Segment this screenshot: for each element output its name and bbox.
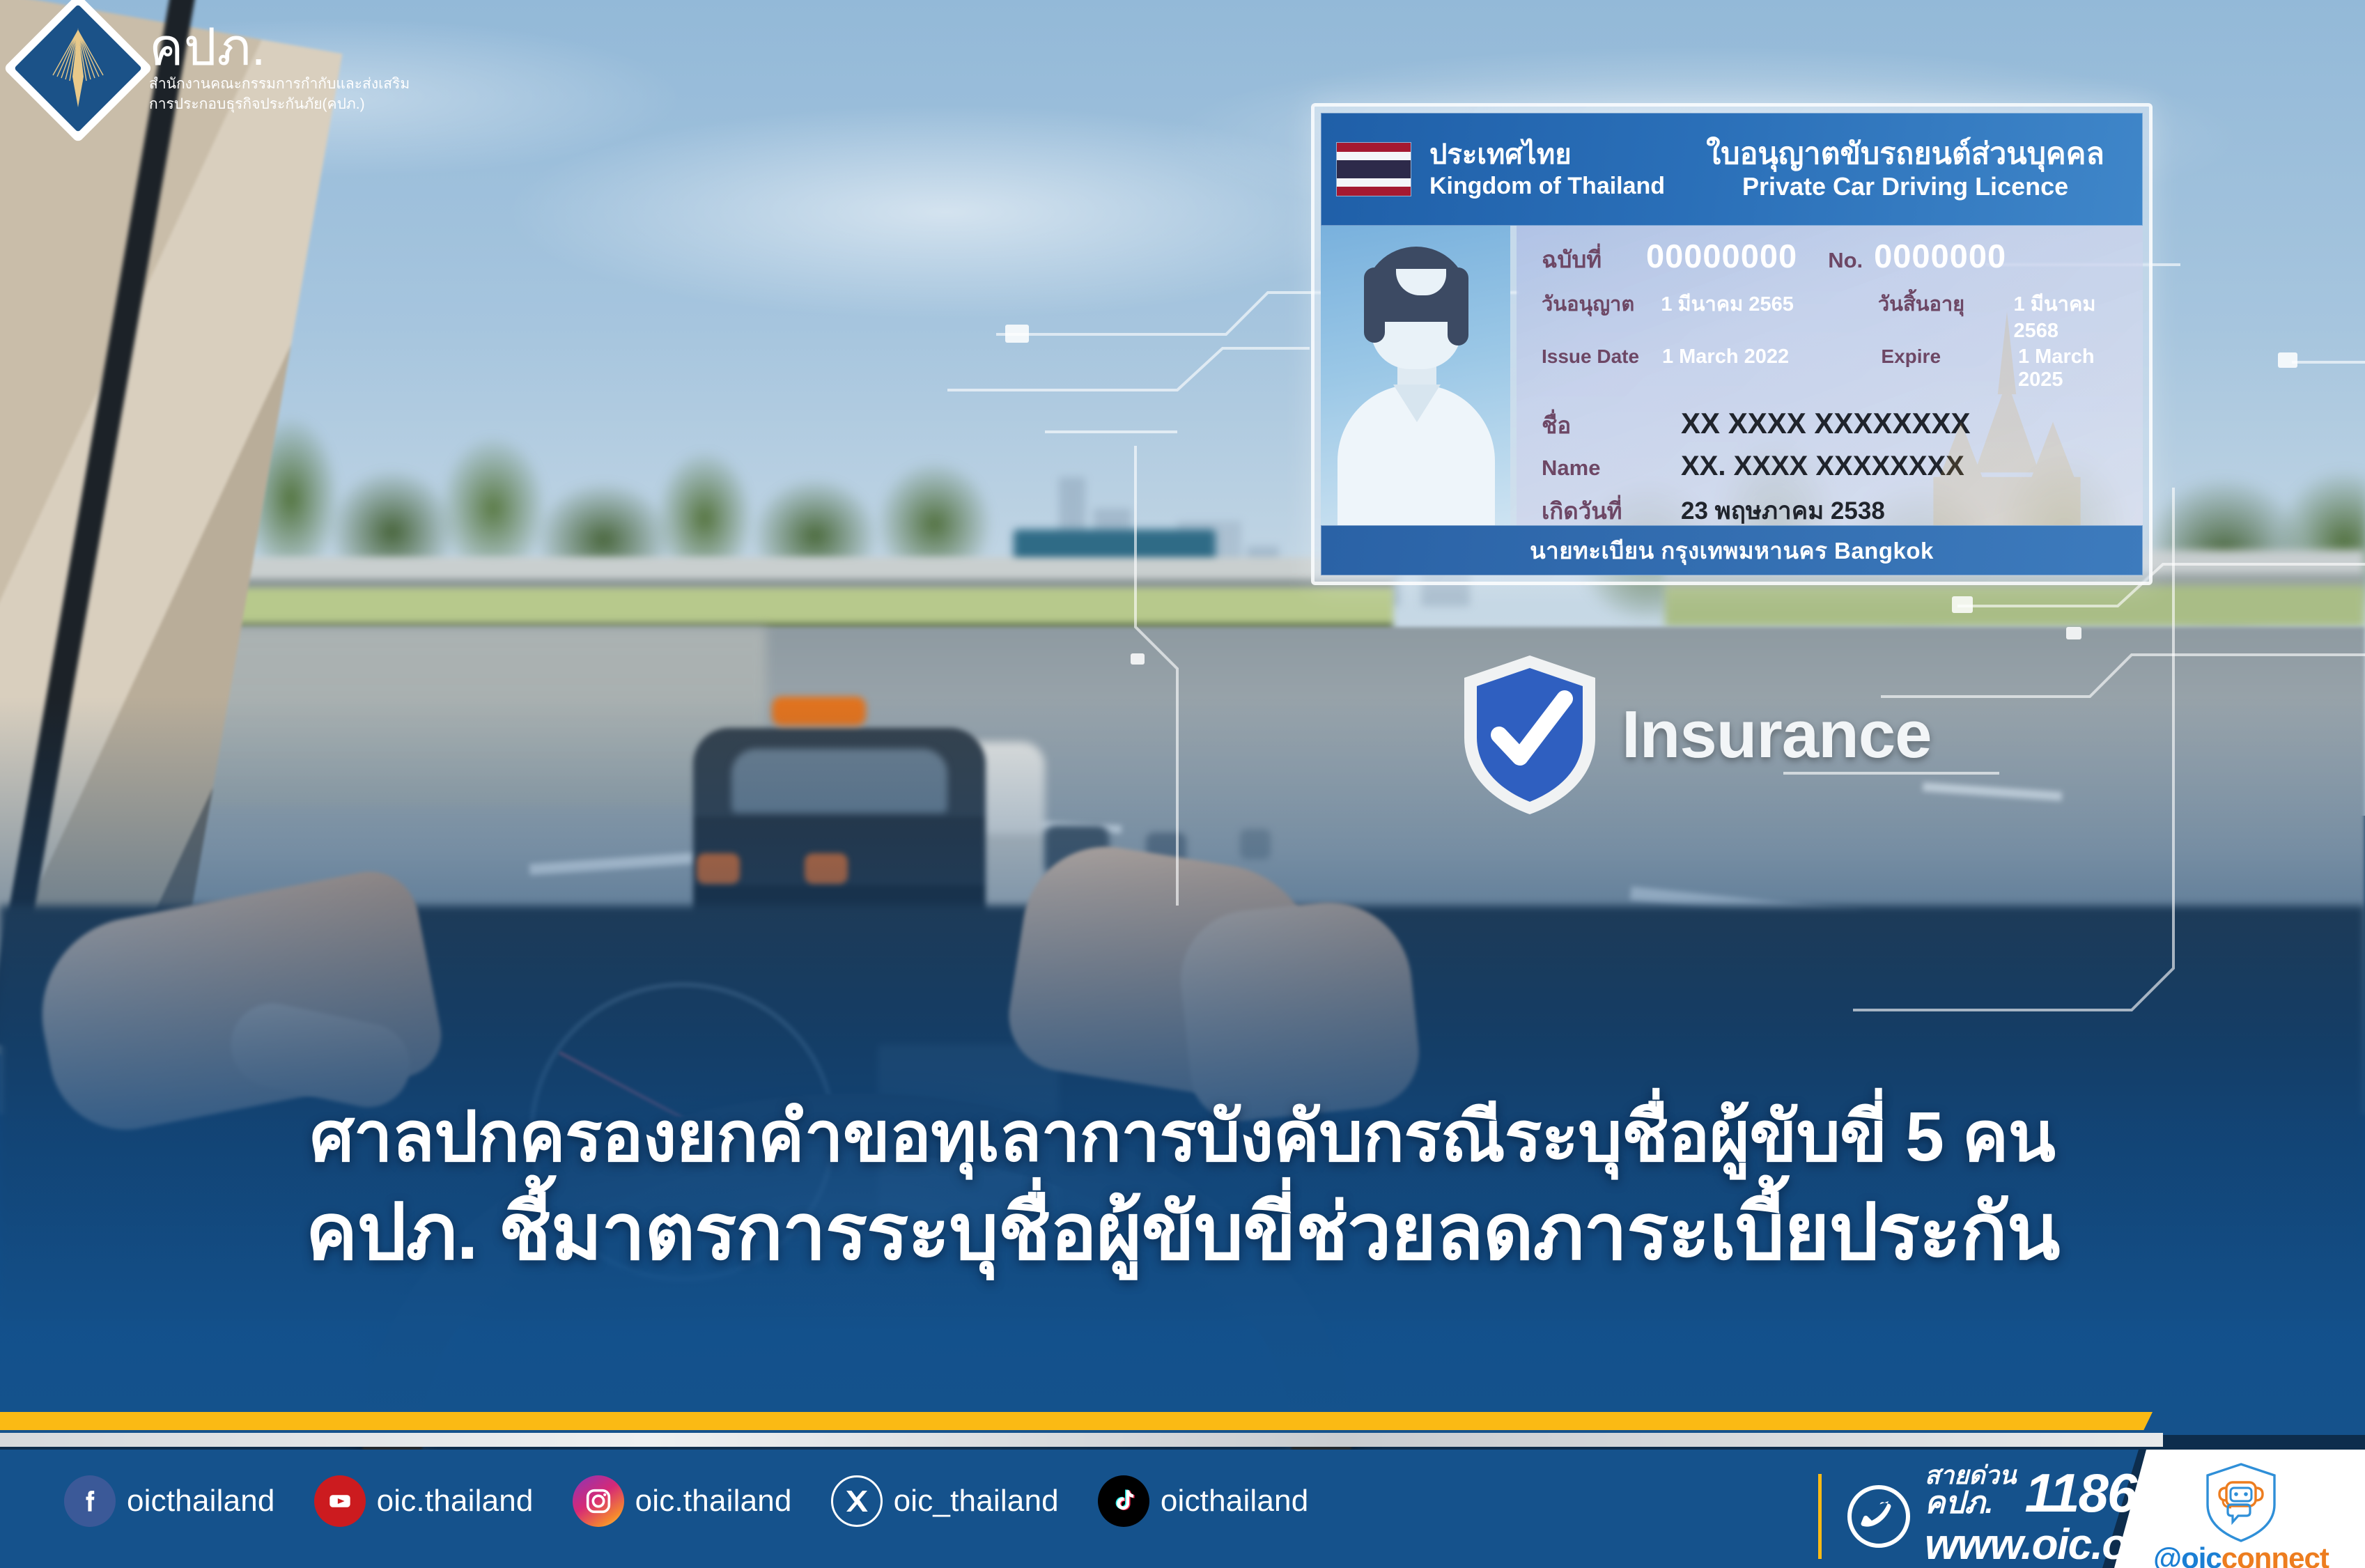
licence-registrar: นายทะเบียน กรุงเทพมหานคร Bangkok: [1321, 525, 2143, 575]
shield-check-icon: [1456, 651, 1604, 818]
licence-no-label: No.: [1797, 248, 1874, 273]
logo-abbr: คปภ.: [149, 23, 410, 72]
insurance-label: Insurance: [1622, 697, 1932, 773]
footer: oicthailand oic.thailand oic.thailand: [0, 1393, 2365, 1568]
licence-birth-th-label: เกิดวันที่: [1542, 492, 1681, 529]
logo-subtitle-line2: การประกอบธุรกิจประกันภัย(คปภ.): [149, 95, 410, 114]
social-x-twitter[interactable]: oic_thailand: [831, 1475, 1059, 1527]
social-handle: oic.thailand: [635, 1484, 792, 1519]
licence-country-en: Kingdom of Thailand: [1429, 172, 1665, 200]
hotline-label-1: สายด่วน: [1925, 1463, 2016, 1488]
licence-no-value: 0000000: [1874, 237, 2006, 275]
insurance-badge: Insurance: [1456, 651, 1932, 818]
driving-licence-card: ประเทศไทย Kingdom of Thailand ใบอนุญาตขั…: [1311, 103, 2153, 585]
headline-line-2: คปภ. ชี้มาตรการระบุชื่อผู้ขับขี่ช่วยลดภา…: [0, 1184, 2365, 1281]
licence-issue-th-label: วันอนุญาต: [1542, 288, 1661, 343]
hotline-block[interactable]: สายด่วน คปภ. 1186 www.oic.or.th: [1818, 1463, 2190, 1568]
tiktok-icon: [1098, 1475, 1149, 1527]
social-handle: oicthailand: [1161, 1484, 1309, 1519]
logo-subtitle-line1: สำนักงานคณะกรรมการกำกับและส่งเสริม: [149, 75, 410, 93]
licence-header: ประเทศไทย Kingdom of Thailand ใบอนุญาตขั…: [1321, 113, 2143, 226]
licence-issue-en-label: Issue Date: [1542, 346, 1662, 391]
social-facebook[interactable]: oicthailand: [64, 1475, 275, 1527]
hotline-number: 1186: [2024, 1468, 2136, 1519]
bridge-fan-icon: [25, 15, 131, 121]
oicconnect-at: @oic: [2153, 1542, 2221, 1568]
blue-gradient-overlay: [0, 697, 2365, 1435]
oicconnect-title: @oicconnect: [2137, 1544, 2345, 1568]
yellow-stripe: [0, 1412, 2133, 1430]
hotline-divider: [1818, 1474, 1822, 1559]
licence-bookno-value: 00000000: [1646, 237, 1797, 275]
x-twitter-icon: [831, 1475, 883, 1527]
licence-name-en-label: Name: [1542, 456, 1681, 481]
headline-line-1: ศาลปกครองยกคำขอทุเลาการบังคับกรณีระบุชื่…: [0, 1094, 2365, 1180]
licence-bookno-label: ฉบับที่: [1542, 241, 1646, 278]
oic-logo: คปภ. สำนักงานคณะกรรมการกำกับและส่งเสริม …: [25, 15, 410, 121]
licence-birth-th-value: 23 พฤษภาคม 2538: [1681, 492, 1885, 530]
oic-diamond-logo-icon: [25, 15, 131, 121]
social-links: oicthailand oic.thailand oic.thailand: [64, 1475, 1308, 1527]
licence-issue-th-value: 1 มีนาคม 2565: [1661, 288, 1878, 343]
licence-title-en: Private Car Driving Licence: [1683, 172, 2127, 201]
facebook-icon: [64, 1475, 116, 1527]
instagram-icon: [573, 1475, 624, 1527]
oicconnect-logo[interactable]: @oicconnect Insurance related info: [2137, 1461, 2345, 1568]
thailand-flag-icon: [1336, 142, 1411, 196]
social-tiktok[interactable]: oicthailand: [1098, 1475, 1309, 1527]
licence-country-th: ประเทศไทย: [1429, 139, 1665, 171]
hotline-label-2: คปภ.: [1925, 1488, 2016, 1519]
portrait-placeholder-icon: [1321, 226, 1510, 532]
social-instagram[interactable]: oic.thailand: [573, 1475, 792, 1527]
oicconnect-name: connect: [2221, 1542, 2329, 1568]
social-youtube[interactable]: oic.thailand: [314, 1475, 534, 1527]
licence-issue-en-value: 1 March 2022: [1662, 346, 1881, 391]
silver-stripe: [0, 1433, 2163, 1447]
licence-fields: ฉบับที่ 00000000 No. 0000000 วันอนุญาต 1…: [1517, 226, 2143, 532]
youtube-icon: [314, 1475, 366, 1527]
poster-canvas: คปภ. สำนักงานคณะกรรมการกำกับและส่งเสริม …: [0, 0, 2365, 1568]
chatbot-shield-icon: [2203, 1461, 2279, 1544]
phone-icon: [1845, 1483, 1912, 1550]
temple-watermark-icon: [1892, 302, 2122, 532]
social-handle: oic.thailand: [377, 1484, 534, 1519]
social-handle: oicthailand: [127, 1484, 275, 1519]
licence-name-th-label: ชื่อ: [1542, 407, 1681, 444]
licence-title-th: ใบอนุญาตขับรถยนต์ส่วนบุคคล: [1683, 137, 2127, 172]
social-handle: oic_thailand: [894, 1484, 1059, 1519]
headline: ศาลปกครองยกคำขอทุเลาการบังคับกรณีระบุชื่…: [0, 1094, 2365, 1281]
